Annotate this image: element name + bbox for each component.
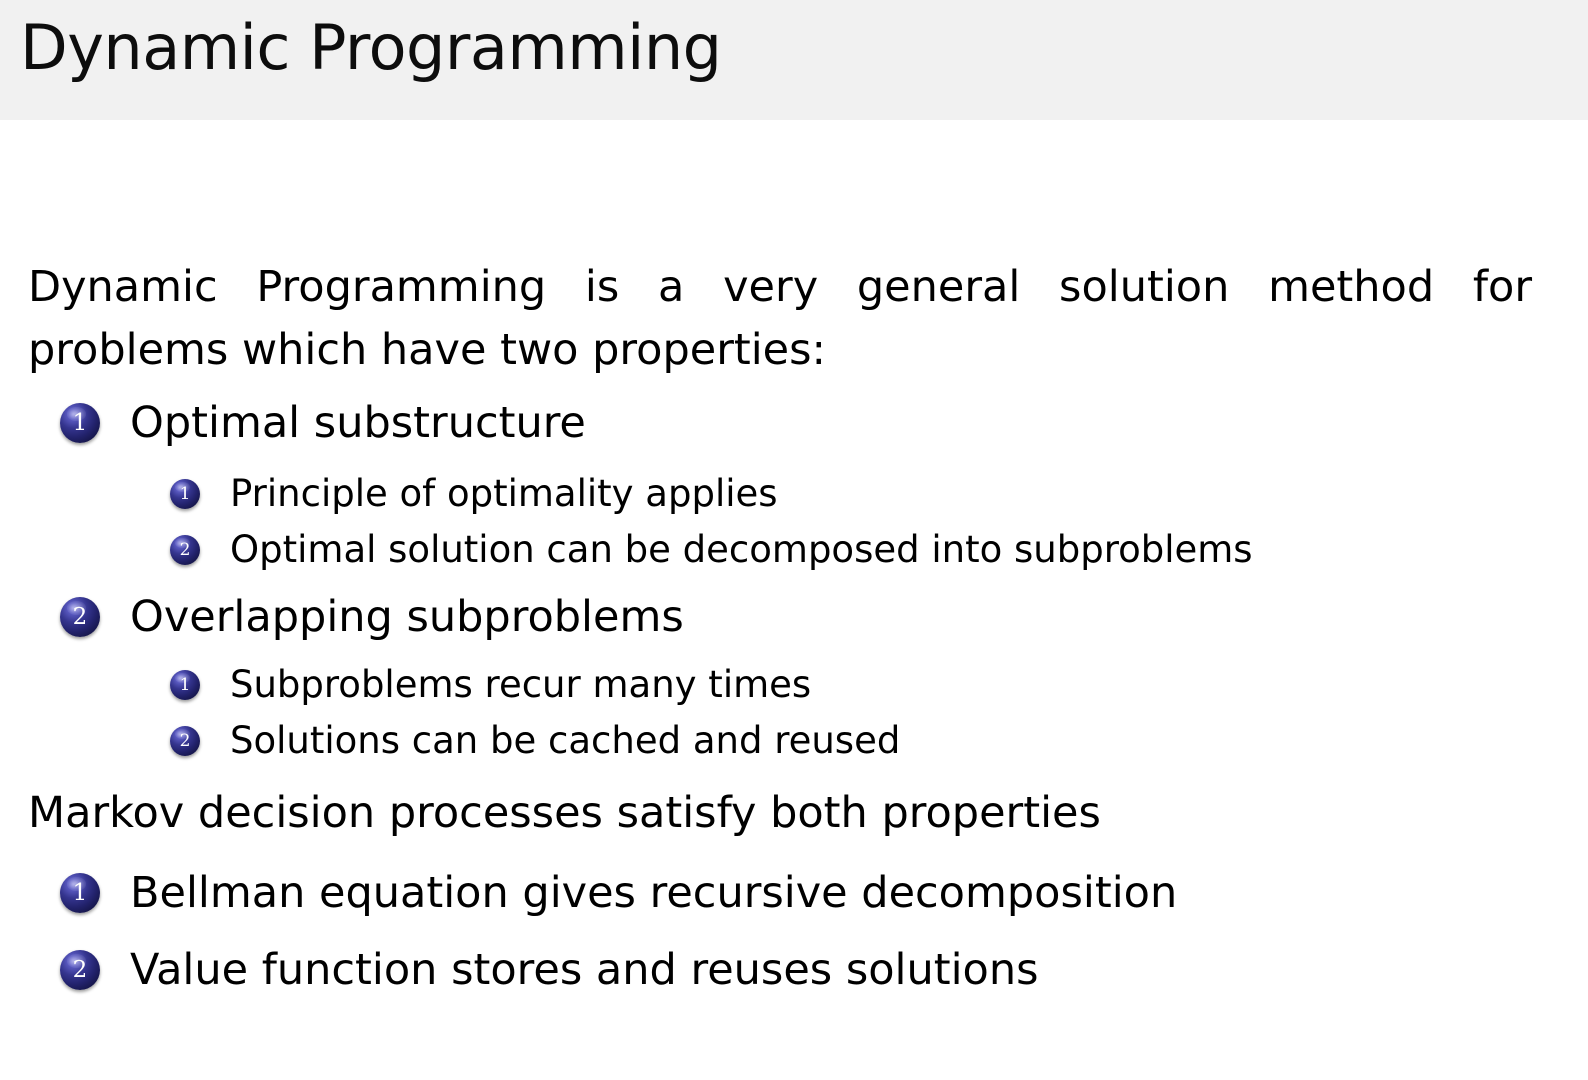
- bullet-number: 1: [180, 486, 191, 503]
- intro-paragraph: Dynamic Programming is a very general so…: [28, 256, 1532, 382]
- list-item-label: Bellman equation gives recursive decompo…: [130, 868, 1177, 918]
- list-item-label: Value function stores and reuses solutio…: [130, 945, 1039, 995]
- mdp-paragraph: Markov decision processes satisfy both p…: [28, 782, 1532, 845]
- numbered-bullet-icon: 1: [60, 873, 100, 913]
- bullet-number: 2: [73, 959, 88, 982]
- list-item: 2 Optimal solution can be decomposed int…: [170, 528, 1253, 572]
- list-item-label: Subproblems recur many times: [230, 663, 811, 707]
- list-item-label: Optimal substructure: [130, 398, 586, 448]
- numbered-bullet-icon: 2: [60, 950, 100, 990]
- numbered-bullet-icon: 2: [170, 726, 200, 756]
- bullet-number: 1: [180, 677, 191, 694]
- list-item-label: Overlapping subproblems: [130, 592, 684, 642]
- list-item: 2 Value function stores and reuses solut…: [60, 945, 1039, 995]
- list-item: 2 Overlapping subproblems: [60, 592, 684, 642]
- bullet-number: 2: [180, 542, 191, 559]
- list-item-label: Principle of optimality applies: [230, 472, 778, 516]
- page-title: Dynamic Programming: [20, 17, 722, 79]
- bullet-number: 1: [73, 882, 88, 905]
- list-item: 2 Solutions can be cached and reused: [170, 719, 900, 763]
- numbered-bullet-icon: 1: [170, 479, 200, 509]
- numbered-bullet-icon: 1: [60, 403, 100, 443]
- bullet-number: 2: [180, 733, 191, 750]
- list-item: 1 Optimal substructure: [60, 398, 586, 448]
- list-item: 1 Principle of optimality applies: [170, 472, 778, 516]
- slide-body: Dynamic Programming is a very general so…: [0, 120, 1588, 1080]
- numbered-bullet-icon: 2: [60, 597, 100, 637]
- slide-title-band: Dynamic Programming: [0, 0, 1588, 120]
- numbered-bullet-icon: 2: [170, 535, 200, 565]
- bullet-number: 1: [73, 412, 88, 435]
- list-item-label: Optimal solution can be decomposed into …: [230, 528, 1253, 572]
- list-item: 1 Subproblems recur many times: [170, 663, 811, 707]
- numbered-bullet-icon: 1: [170, 670, 200, 700]
- list-item: 1 Bellman equation gives recursive decom…: [60, 868, 1177, 918]
- bullet-number: 2: [73, 606, 88, 629]
- list-item-label: Solutions can be cached and reused: [230, 719, 900, 763]
